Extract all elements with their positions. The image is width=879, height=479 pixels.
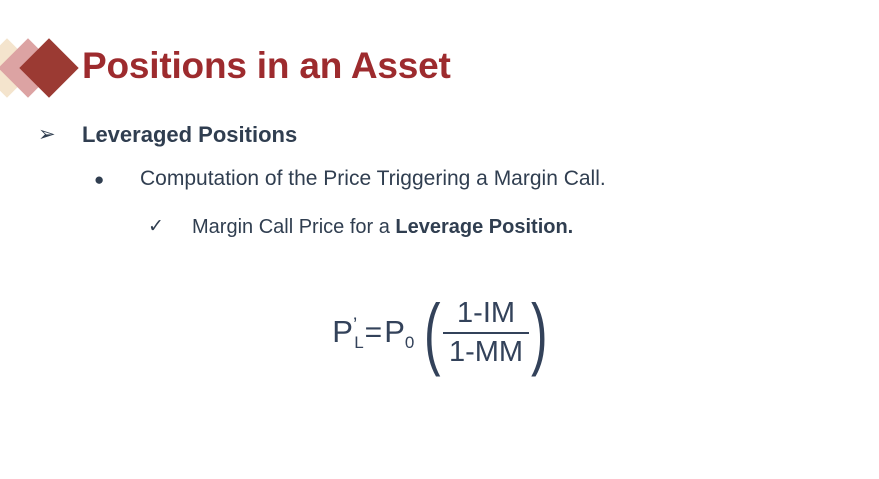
bullet-text-emphasis: Leverage Position. — [395, 216, 573, 238]
formula-paren-open: ( — [424, 299, 441, 367]
formula-denominator: 1-MM — [443, 335, 529, 370]
formula-block: P’L = P0 ( 1-IM 1-MM ) — [0, 296, 879, 371]
bullet-label-margin-call-price: Margin Call Price for a Leverage Positio… — [192, 210, 573, 244]
bullet-label-computation: Computation of the Price Triggering a Ma… — [140, 162, 606, 196]
formula-lhs-variable: P’L — [332, 316, 363, 351]
bullet-item-level-2: ● Computation of the Price Triggering a … — [0, 162, 879, 210]
diamond-decoration — [0, 38, 82, 98]
formula-paren-close: ) — [531, 299, 548, 367]
formula-fraction: 1-IM 1-MM — [443, 296, 529, 371]
arrow-bullet-icon: ➢ — [38, 120, 56, 150]
checkmark-bullet-icon: ✓ — [148, 212, 164, 242]
bullet-text-plain: Margin Call Price for a — [192, 216, 395, 238]
formula-numerator: 1-IM — [451, 296, 521, 331]
formula-lhs-symbol: P — [332, 314, 353, 349]
slide-title-row: Positions in an Asset — [0, 36, 879, 100]
formula-equals-sign: = — [365, 318, 383, 348]
bullet-list: ➢ Leveraged Positions ● Computation of t… — [0, 118, 879, 258]
formula-rhs-subscript: 0 — [405, 334, 414, 351]
page-title: Positions in an Asset — [82, 36, 451, 96]
formula-fraction-bar — [443, 332, 529, 334]
bullet-item-level-1: ➢ Leveraged Positions — [0, 118, 879, 162]
dot-bullet-icon: ● — [94, 165, 104, 195]
bullet-label-leveraged-positions: Leveraged Positions — [82, 118, 297, 152]
formula-lhs-subscript: L — [354, 334, 363, 351]
bullet-item-level-3: ✓ Margin Call Price for a Leverage Posit… — [0, 210, 879, 258]
formula-rhs-symbol: P — [384, 314, 405, 349]
formula-expression: P’L = P0 ( 1-IM 1-MM ) — [332, 296, 546, 371]
slide-canvas: Positions in an Asset ➢ Leveraged Positi… — [0, 0, 879, 479]
formula-rhs-variable: P0 — [384, 316, 414, 351]
